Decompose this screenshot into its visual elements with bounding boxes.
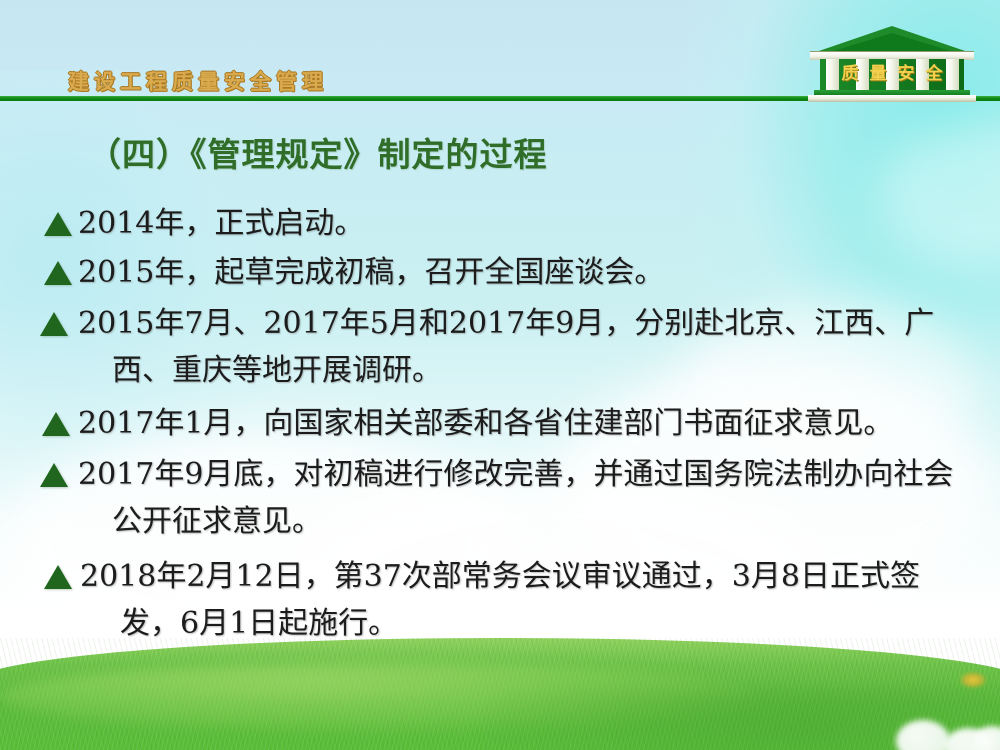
grass-field <box>0 630 1000 750</box>
list-item-text: 2017年1月，向国家相关部委和各省住建部门书面征求意见。 <box>78 406 893 441</box>
list-item-text: 2017年9月底，对初稿进行修改完善，并通过国务院法制办向社会公开征求意见。 <box>78 457 953 539</box>
logo-text: 质量安全 <box>820 62 964 86</box>
bullet-list: 2014年，正式启动。 2015年，起草完成初稿，召开全国座谈会。 2015年7… <box>0 200 1000 647</box>
triangle-bullet-icon <box>44 212 72 236</box>
list-item-text: 2015年，起草完成初稿，召开全国座谈会。 <box>78 255 664 290</box>
list-item: 2014年，正式启动。 <box>0 200 1000 247</box>
page-title: （四）《管理规定》制定的过程 <box>88 128 548 176</box>
list-item: 2015年，起草完成初稿，召开全国座谈会。 <box>0 249 1000 296</box>
triangle-bullet-icon <box>40 312 68 336</box>
list-item-text: 2014年，正式启动。 <box>78 206 364 241</box>
temple-logo-icon: 质量安全 <box>808 26 976 102</box>
triangle-bullet-icon <box>44 565 72 589</box>
header-title: 建设工程质量安全管理 <box>68 66 328 96</box>
triangle-bullet-icon <box>40 463 68 487</box>
slide-canvas: 建设工程质量安全管理 质量安全 （四）《管理规定》制定的过程 2014年，正式启… <box>0 0 1000 750</box>
list-item: 2015年7月、2017年5月和2017年9月，分别赴北京、江西、广西、重庆等地… <box>0 300 1000 394</box>
yellow-flower-icon <box>960 672 986 688</box>
logo-roof-inner-shape <box>830 33 954 52</box>
grass-hill-shape <box>0 638 1000 750</box>
list-item-text: 2018年2月12日，第37次部常务会议审议通过，3月8日正式签发，6月1日起施… <box>80 559 920 641</box>
logo-step-lower <box>808 95 976 102</box>
list-item: 2017年1月，向国家相关部委和各省住建部门书面征求意见。 <box>0 400 1000 447</box>
list-item: 2017年9月底，对初稿进行修改完善，并通过国务院法制办向社会公开征求意见。 <box>0 451 1000 545</box>
list-item-text: 2015年7月、2017年5月和2017年9月，分别赴北京、江西、广西、重庆等地… <box>78 306 934 388</box>
triangle-bullet-icon <box>42 412 70 436</box>
triangle-bullet-icon <box>44 261 72 285</box>
